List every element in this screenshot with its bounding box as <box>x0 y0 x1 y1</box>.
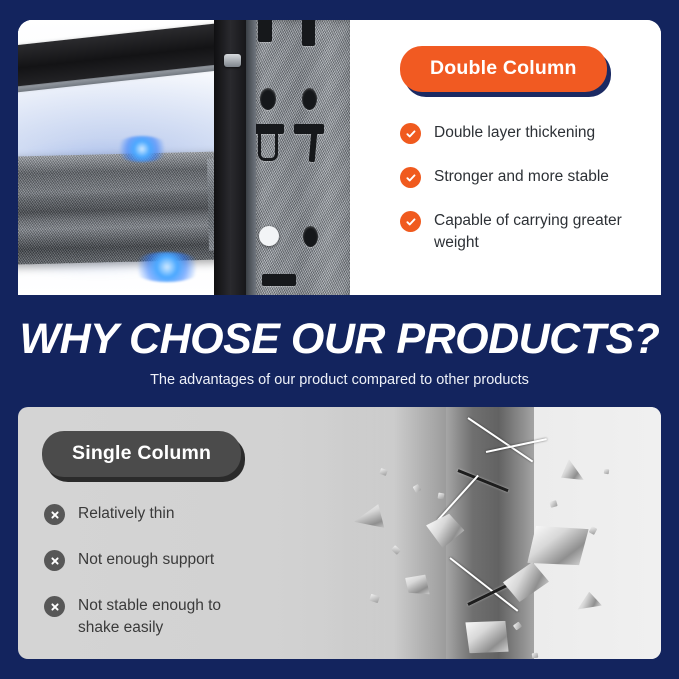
list-item: Relatively thin <box>44 503 259 525</box>
x-circle-icon <box>44 550 65 571</box>
post-oval-hole <box>260 88 276 110</box>
top-panel-double-column: Double Column Double layer thickening St… <box>18 20 661 295</box>
post-left-edge <box>246 20 256 295</box>
check-circle-icon <box>400 167 421 188</box>
list-item: Capable of carrying greater weight <box>400 210 625 254</box>
badge-single-column: Single Column <box>42 431 241 477</box>
list-item: Double layer thickening <box>400 122 625 144</box>
list-item-label: Stronger and more stable <box>434 166 609 188</box>
glass-chip <box>532 653 539 659</box>
post-slot <box>294 124 324 134</box>
check-circle-icon <box>400 123 421 144</box>
post-hook-slot <box>309 132 318 162</box>
list-item: Not enough support <box>44 549 259 571</box>
post-oval-hole <box>303 226 318 247</box>
double-column-product-photo <box>18 20 350 295</box>
post-hook-slot <box>258 132 278 161</box>
glass-fragment <box>527 521 588 570</box>
glass-chip <box>438 493 445 500</box>
post-slot <box>262 274 296 286</box>
post-slot <box>258 20 272 42</box>
glass-fragment <box>462 617 512 658</box>
post-slot <box>302 20 315 46</box>
advantages-list: Double layer thickening Stronger and mor… <box>350 122 661 254</box>
bottom-panel-single-column: Single Column Relatively thin Not enough… <box>18 407 661 659</box>
list-item: Not stable enough to shake easily <box>44 595 259 639</box>
list-item-label: Not enough support <box>78 549 214 571</box>
x-circle-icon <box>44 504 65 525</box>
headline-band: WHY CHOSE OUR PRODUCTS? The advantages o… <box>0 296 679 406</box>
bolt-fastener <box>224 54 241 67</box>
list-item-label: Not stable enough to shake easily <box>78 595 259 639</box>
list-item: Stronger and more stable <box>400 166 625 188</box>
perforated-upright-post <box>246 20 350 295</box>
check-circle-icon <box>400 211 421 232</box>
list-item-label: Capable of carrying greater weight <box>434 210 625 254</box>
list-item-label: Double layer thickening <box>434 122 595 144</box>
disadvantages-list: Relatively thin Not enough support Not s… <box>18 503 438 639</box>
list-item-label: Relatively thin <box>78 503 175 525</box>
badge-double-column: Double Column <box>400 46 607 92</box>
post-oval-hole <box>302 88 317 110</box>
bottom-panel-content: Single Column Relatively thin Not enough… <box>18 407 438 659</box>
glass-chip <box>604 469 610 475</box>
page-subtitle: The advantages of our product compared t… <box>0 361 679 388</box>
top-panel-content: Double Column Double layer thickening St… <box>350 20 661 295</box>
post-round-hole <box>259 226 279 246</box>
product-comparison-infographic: Double Column Double layer thickening St… <box>0 0 679 679</box>
x-circle-icon <box>44 596 65 617</box>
page-title: WHY CHOSE OUR PRODUCTS? <box>0 296 679 361</box>
